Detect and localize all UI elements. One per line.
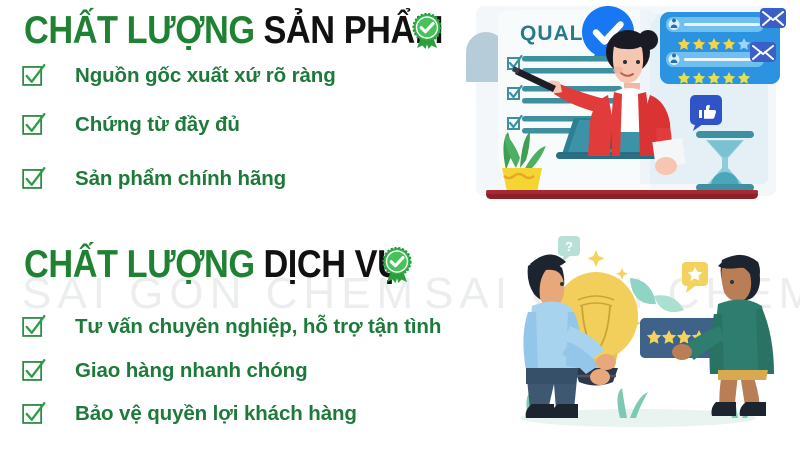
checkbox-checked-icon (20, 400, 47, 427)
envelope-icon (750, 42, 776, 62)
svg-text:?: ? (565, 239, 573, 254)
list-item: Nguồn gốc xuất xứ rõ ràng (20, 62, 336, 89)
checkbox-checked-icon (20, 165, 47, 192)
section-1-heading-green: CHẤT LƯỢNG (24, 9, 255, 52)
list-item-label: Giao hàng nhanh chóng (75, 359, 308, 383)
poster-canvas: SAI GON CHEM SAI GON CHEM CHẤT LƯỢNGSẢN … (0, 0, 800, 450)
star-bubble-icon (682, 262, 708, 293)
list-item-label: Sản phẩm chính hãng (75, 167, 286, 191)
award-rosette-check-icon (410, 13, 444, 49)
list-item: Tư vấn chuyên nghiệp, hỗ trợ tận tình (20, 313, 441, 340)
quality-checklist-woman-illustration: QUALITY (458, 0, 800, 215)
list-item-label: Chứng từ đầy đủ (75, 113, 240, 137)
section-1-heading: CHẤT LƯỢNGSẢN PHẨM (24, 11, 443, 50)
checkbox-checked-icon (20, 313, 47, 340)
list-item-label: Nguồn gốc xuất xứ rõ ràng (75, 64, 336, 88)
award-rosette-check-icon (380, 247, 414, 283)
list-item-label: Tư vấn chuyên nghiệp, hỗ trợ tận tình (75, 315, 441, 339)
checkbox-checked-icon (20, 62, 47, 89)
checkbox-checked-icon (20, 357, 47, 384)
section-2-heading-green: CHẤT LƯỢNG (24, 243, 255, 286)
service-handshake-rating-illustration: ? (470, 222, 800, 450)
checkbox-checked-icon (20, 111, 47, 138)
section-2-heading: CHẤT LƯỢNGDỊCH VỤ (24, 245, 401, 284)
envelope-icon (760, 8, 786, 28)
list-item: Chứng từ đầy đủ (20, 111, 240, 138)
list-item-label: Bảo vệ quyền lợi khách hàng (75, 402, 357, 426)
list-item: Giao hàng nhanh chóng (20, 357, 308, 384)
list-item: Sản phẩm chính hãng (20, 165, 286, 192)
list-item: Bảo vệ quyền lợi khách hàng (20, 400, 357, 427)
